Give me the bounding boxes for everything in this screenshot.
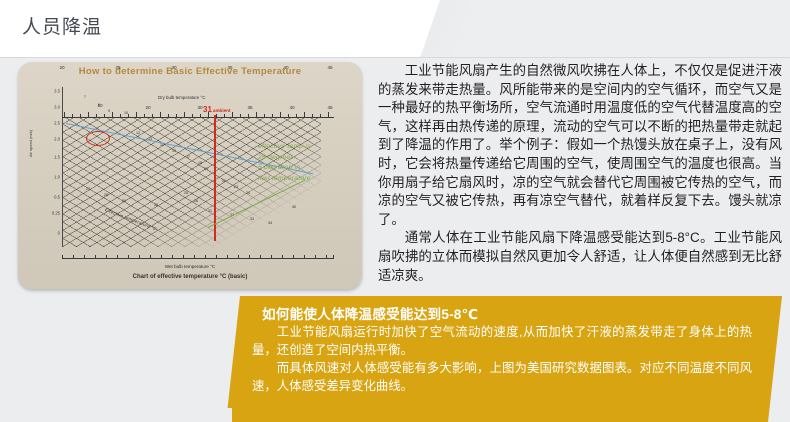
y-tick-label: 1.5 xyxy=(44,155,60,160)
slide-page: 人员降温 How to determine Basic Effective Te… xyxy=(0,0,790,422)
top-axis-title: Dry bulb temperature °C xyxy=(158,95,205,100)
x-tick-label-bottom: 20 xyxy=(59,65,64,70)
y-tick-label: 2.5 xyxy=(44,121,60,126)
curve-label: 22 xyxy=(222,179,226,183)
curve-label: 23 xyxy=(234,185,238,189)
curve-label: 9 xyxy=(108,109,110,113)
page-title: 人员降温 xyxy=(22,12,102,39)
curve-label: 17 xyxy=(186,155,190,159)
bottom-axis-line xyxy=(62,258,334,259)
airspeed-highlight-circle xyxy=(86,131,110,146)
curve-label: 24 xyxy=(246,191,250,195)
y-tick-label: 0.25 xyxy=(44,211,60,216)
x-tick-label-top: 45 xyxy=(327,105,332,110)
curve-label: 18 xyxy=(198,161,202,165)
article-paragraph: 通常人体在工业节能风扇下降温感受能达到5-8°C。工业节能风扇吹拂的立体而模拟自… xyxy=(378,229,782,285)
curve-label: 31 xyxy=(208,209,212,213)
x-tick-label-bottom: 25 xyxy=(115,65,120,70)
y-tick-label: 1.0 xyxy=(44,175,60,180)
ambient-marker-label: 31ambient xyxy=(203,105,231,114)
chart-title: How to determine Basic Effective Tempera… xyxy=(18,66,362,77)
curve-label: 34 xyxy=(268,221,272,225)
header-diagonal-gray-right xyxy=(450,0,790,58)
bottom-axis-title: Wet bulb temperature °C xyxy=(18,264,362,269)
banner-paragraph: 工业节能风扇运行时加快了空气流动的速度,从而加快了汗液的蒸发带走了身体上的热量，… xyxy=(252,323,752,359)
curve-label: 26 xyxy=(194,199,198,203)
x-tick-label-top: 40 xyxy=(289,105,294,110)
y-tick-label: 0.5 xyxy=(44,195,60,200)
x-tick-label-top: 20 xyxy=(145,105,150,110)
article-paragraph: 工业节能风扇产生的自然微风吹拂在人体上，不仅仅是促进汗液的蒸发来带走热量。风所能… xyxy=(378,62,782,229)
x-tick-label-top: 35 xyxy=(247,105,252,110)
chart-plot-area: 3.5 3.0 2.5 2.0 1.5 1.0 0.5 0.25 0 Air s… xyxy=(62,87,334,247)
curve-label: 20 xyxy=(204,167,208,171)
y-axis-title: Air speed (m/s) xyxy=(28,130,33,157)
banner-paragraph: 而具体风速对人体感受能有多大影响，上图为美国研究数据图表。对应不同温度不同风速，… xyxy=(252,359,752,395)
article-body: 工业节能风扇产生的自然微风吹拂在人体上，不仅仅是促进汗液的蒸发来带走热量。风所能… xyxy=(378,62,782,285)
x-tick-label-bottom: 35 xyxy=(227,65,232,70)
x-tick-label-top: 30 xyxy=(197,105,202,110)
curve-label: 29 xyxy=(122,199,126,203)
curve-label: 13 xyxy=(148,137,152,141)
curve-label: 30 xyxy=(154,203,158,207)
x-tick-label-bottom: 45 xyxy=(327,65,332,70)
page-header xyxy=(0,0,790,58)
curve-label: 27 xyxy=(86,187,90,191)
curve-label: 25 xyxy=(184,191,188,195)
curve-label: 15 xyxy=(172,149,176,153)
handwritten-annotation: effective temp is 26 degrees 5 deg drop … xyxy=(258,142,311,184)
x-tick-label-top: 10 xyxy=(97,103,102,108)
curve-label: 14 xyxy=(160,143,164,147)
banner-heading: 如何能使人体降温感受能达到5-8℃ xyxy=(262,303,478,323)
chart-caption: Chart of effective temperature °C (basic… xyxy=(18,274,362,280)
y-tick-label: 2.0 xyxy=(44,137,60,142)
footer-strip xyxy=(0,408,232,422)
curve-label: 12 xyxy=(136,131,140,135)
x-tick-label-bottom: 40 xyxy=(283,65,288,70)
y-tick-label: 3.5 xyxy=(44,89,60,94)
y-tick-label: 0 xyxy=(44,231,60,236)
curve-label: 33 xyxy=(250,217,254,221)
curve-label: 40 xyxy=(292,205,296,209)
effective-temperature-chart-card: How to determine Basic Effective Tempera… xyxy=(18,62,362,289)
x-tick-label-bottom: 30 xyxy=(171,65,176,70)
highlight-banner: 如何能使人体降温感受能达到5-8℃ 工业节能风扇运行时加快了空气流动的速度,从而… xyxy=(226,296,782,422)
curve-label: 28 xyxy=(104,193,108,197)
ambient-suffix: ambient xyxy=(213,108,231,113)
y-tick-label: 3.0 xyxy=(44,105,60,110)
banner-body: 工业节能风扇运行时加快了空气流动的速度,从而加快了汗液的蒸发带走了身体上的热量，… xyxy=(252,323,752,395)
curve-label: 7 xyxy=(84,95,86,99)
header-divider xyxy=(0,57,790,58)
ambient-value: 31 xyxy=(203,105,212,114)
top-axis-line xyxy=(62,117,334,118)
